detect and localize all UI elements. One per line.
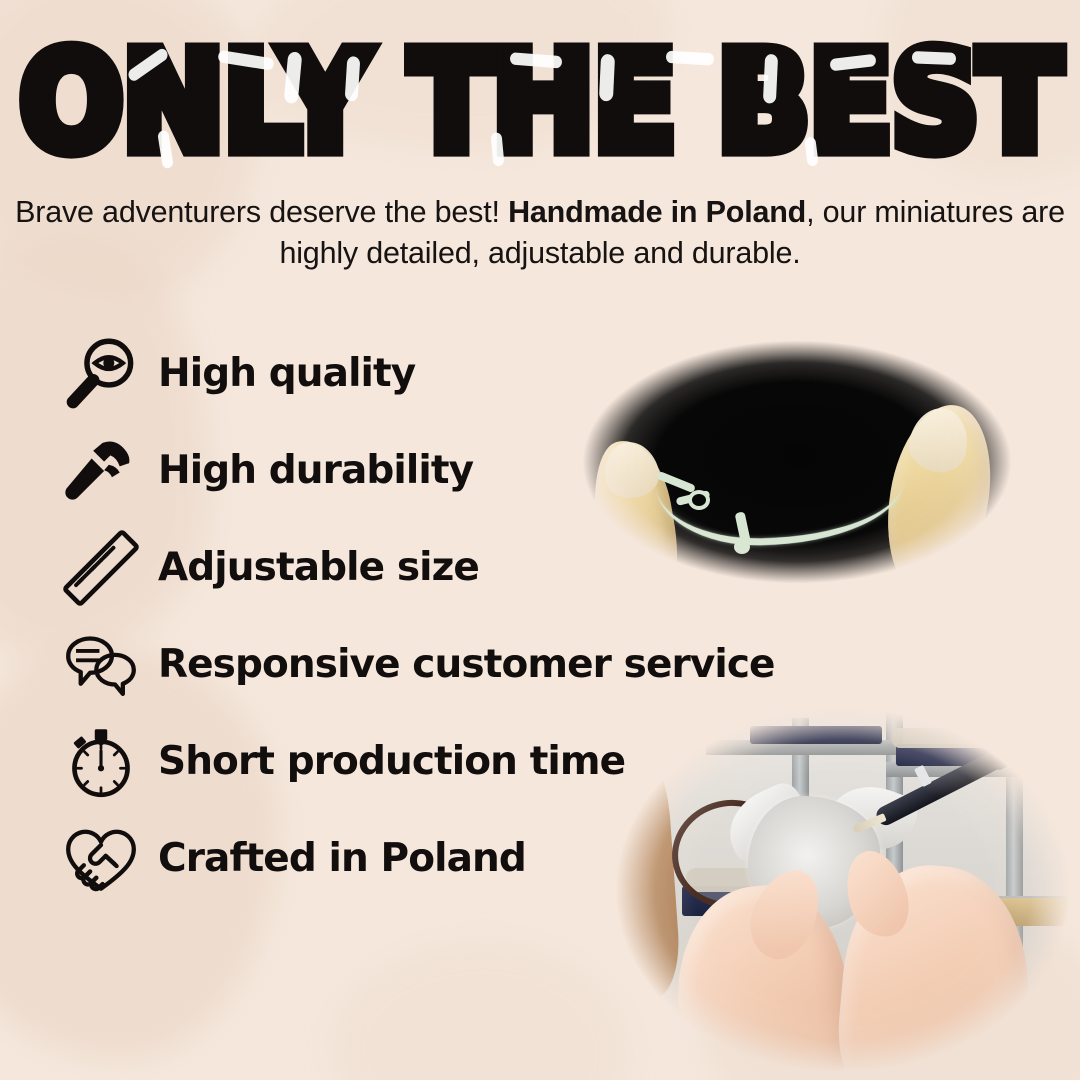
workshop-crafting-photo <box>586 700 1080 1080</box>
flexible-miniature-photo <box>538 312 1056 612</box>
subtitle-lead: Brave adventurers deserve the best! <box>15 195 500 229</box>
feature-label: High quality <box>158 351 415 396</box>
subtitle-emphasis: Handmade in Poland <box>508 195 806 229</box>
feature-label: Adjustable size <box>158 545 479 590</box>
hammer-icon <box>62 432 140 510</box>
feature-label: High durability <box>158 448 473 493</box>
stopwatch-icon <box>62 723 140 801</box>
heart-handshake-icon <box>62 820 140 898</box>
feature-label: Short production time <box>158 739 625 784</box>
ruler-icon <box>62 529 140 607</box>
speech-bubbles-icon <box>62 626 140 704</box>
page-title: ONLY THE BEST <box>0 34 1080 171</box>
feature-item-responsive-customer-service: Responsive customer service <box>62 616 782 713</box>
magnifier-eye-icon <box>62 335 140 413</box>
subtitle: Brave adventurers deserve the best! Hand… <box>0 192 1080 273</box>
feature-label: Responsive customer service <box>158 642 775 687</box>
poster-canvas: ONLY THE BEST Brave adventurers deserve … <box>0 0 1080 1080</box>
feature-label: Crafted in Poland <box>158 836 526 881</box>
